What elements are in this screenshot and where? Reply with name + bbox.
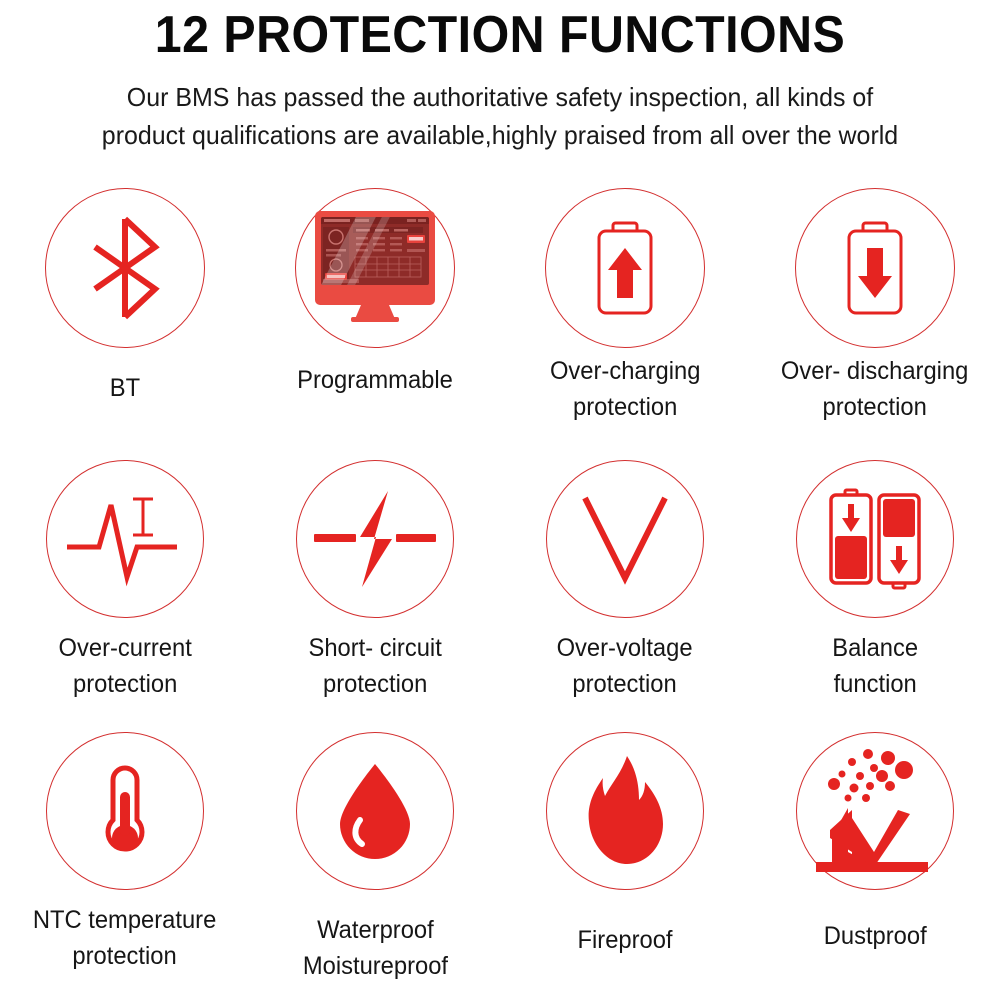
feature-item-over-charging: Over-charging protection xyxy=(500,188,750,460)
feature-item-programmable: Programmable xyxy=(250,188,500,460)
feature-label: Dustproof xyxy=(824,918,927,954)
battery-up-arrow-icon xyxy=(590,220,660,316)
label-line-2: protection xyxy=(58,666,191,702)
feature-item-ntc-temperature: NTC temperature protection xyxy=(0,732,250,1000)
icon-circle xyxy=(795,188,955,348)
icon-circle xyxy=(296,732,454,890)
header: 12 PROTECTION FUNCTIONS Our BMS has pass… xyxy=(0,0,1000,154)
label-line-1: Waterproof xyxy=(317,916,434,944)
label-line-1: Dustproof xyxy=(824,922,927,950)
label-line-1: Fireproof xyxy=(577,926,672,954)
lightning-bolt-icon xyxy=(312,489,438,589)
icon-circle xyxy=(295,188,455,348)
label-line-2: protection xyxy=(550,389,700,425)
page-subtitle: Our BMS has passed the authoritative saf… xyxy=(20,78,980,154)
feature-label: Balance function xyxy=(832,630,918,702)
water-droplet-icon xyxy=(332,762,418,860)
bluetooth-icon xyxy=(75,213,175,323)
feature-item-waterproof: Waterproof Moistureproof xyxy=(250,732,500,1000)
icon-circle xyxy=(46,732,204,890)
feature-label: Over-voltage protection xyxy=(557,630,693,702)
feature-item-dustproof: Dustproof xyxy=(750,732,1000,1000)
subtitle-line-2: product qualifications are available,hig… xyxy=(20,116,980,154)
label-line-1: Over-charging xyxy=(550,357,700,385)
feature-item-short-circuit: Short- circuit protection xyxy=(250,460,500,732)
icon-circle xyxy=(546,460,704,618)
icon-circle xyxy=(546,732,704,890)
icon-circle xyxy=(796,460,954,618)
protection-functions-infographic: 12 PROTECTION FUNCTIONS Our BMS has pass… xyxy=(0,0,1000,1000)
monitor-icon xyxy=(311,209,439,327)
label-line-1: Balance xyxy=(832,634,918,662)
feature-label: Over-charging protection xyxy=(550,353,700,425)
label-line-2: protection xyxy=(781,389,968,425)
icon-circle xyxy=(296,460,454,618)
icon-circle xyxy=(45,188,205,348)
dust-particles-icon xyxy=(812,748,938,874)
label-line-2: Moistureproof xyxy=(302,948,447,984)
feature-item-fireproof: Fireproof xyxy=(500,732,750,1000)
label-line-2: protection xyxy=(308,666,441,702)
icon-circle xyxy=(46,460,204,618)
feature-label: Fireproof xyxy=(577,922,672,958)
label-line-2: protection xyxy=(33,938,216,974)
label-line-1: Short- circuit xyxy=(308,634,441,662)
two-batteries-icon xyxy=(825,488,925,590)
feature-item-over-discharging: Over- discharging protection xyxy=(750,188,1000,460)
feature-label: NTC temperature protection xyxy=(33,902,216,974)
feature-label: Waterproof Moistureproof xyxy=(302,912,447,984)
icon-circle xyxy=(545,188,705,348)
feature-label: BT xyxy=(110,370,140,406)
label-line-2: function xyxy=(832,666,918,702)
battery-down-arrow-icon xyxy=(840,220,910,316)
feature-item-over-voltage: Over-voltage protection xyxy=(500,460,750,732)
label-line-1: Programmable xyxy=(297,366,453,394)
label-line-1: Over-current xyxy=(58,634,191,662)
label-line-1: Over-voltage xyxy=(557,634,693,662)
feature-label: Programmable xyxy=(297,362,453,398)
label-line-1: Over- discharging xyxy=(781,357,968,385)
label-line-1: NTC temperature xyxy=(33,906,216,934)
flame-icon xyxy=(581,754,669,868)
current-waveform-icon xyxy=(65,491,185,587)
subtitle-line-1: Our BMS has passed the authoritative saf… xyxy=(20,78,980,116)
label-line-2: protection xyxy=(557,666,693,702)
feature-label: Over-current protection xyxy=(58,630,191,702)
thermometer-icon xyxy=(91,758,159,864)
page-title: 12 PROTECTION FUNCTIONS xyxy=(35,4,965,66)
feature-label: Short- circuit protection xyxy=(308,630,441,702)
feature-item-over-current: Over-current protection xyxy=(0,460,250,732)
label-line-1: BT xyxy=(110,374,140,402)
feature-item-balance: Balance function xyxy=(750,460,1000,732)
features-grid: BT xyxy=(0,188,1000,1000)
feature-item-bt: BT xyxy=(0,188,250,460)
icon-circle xyxy=(796,732,954,890)
voltage-v-icon xyxy=(579,494,671,584)
feature-label: Over- discharging protection xyxy=(781,353,968,425)
